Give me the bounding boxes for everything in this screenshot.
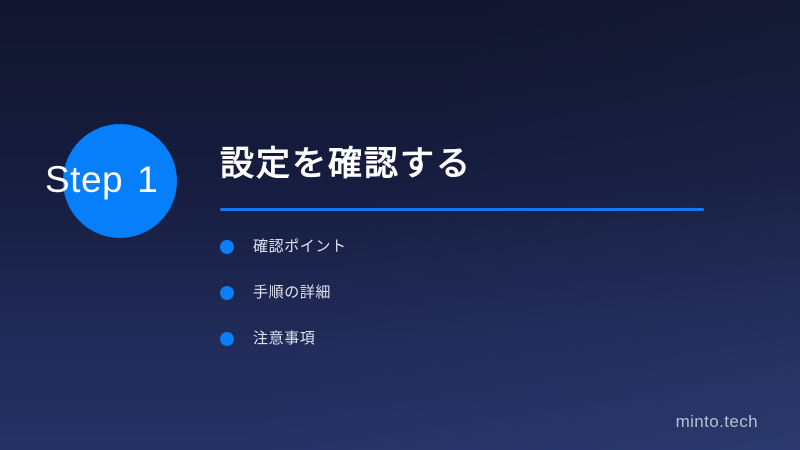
- step-number-text: 1: [137, 159, 158, 200]
- watermark-text: minto.tech: [676, 412, 758, 432]
- bullet-dot-icon: [220, 286, 234, 300]
- list-item: 手順の詳細: [220, 282, 347, 304]
- bullet-dot-icon: [220, 240, 234, 254]
- list-item: 注意事項: [220, 328, 347, 350]
- slide-canvas: Step1 設定を確認する 確認ポイント 手順の詳細 注意事項 minto.te…: [0, 0, 800, 450]
- list-item-label: 確認ポイント: [253, 236, 347, 258]
- list-item: 確認ポイント: [220, 236, 347, 258]
- heading-block: 設定を確認する: [220, 140, 704, 211]
- bullet-dot-icon: [220, 332, 234, 346]
- slide-title: 設定を確認する: [220, 140, 704, 188]
- bullet-list: 確認ポイント 手順の詳細 注意事項: [220, 236, 347, 350]
- list-item-label: 手順の詳細: [253, 282, 331, 304]
- step-word-text: Step: [45, 159, 123, 200]
- list-item-label: 注意事項: [253, 328, 315, 350]
- title-divider-rule: [220, 208, 704, 211]
- step-label: Step1: [45, 152, 158, 208]
